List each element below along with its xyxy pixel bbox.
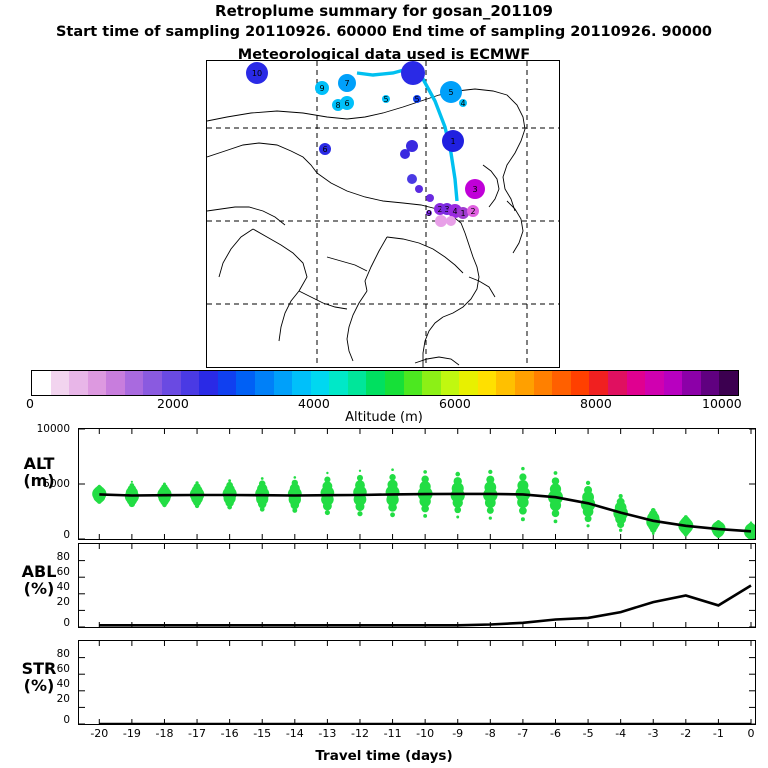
x-tick-label: -13 xyxy=(314,727,340,740)
alt-plot-panel xyxy=(78,428,756,540)
colorbar-swatch xyxy=(292,371,311,395)
x-tick-label: -17 xyxy=(184,727,210,740)
bubble-label: 3 xyxy=(472,185,477,194)
str-ytick-20: 20 xyxy=(30,693,70,705)
altitude-spread-marker xyxy=(684,515,688,519)
x-tick-label: -6 xyxy=(543,727,569,740)
x-tick-label: -3 xyxy=(640,727,666,740)
altitude-spread-marker xyxy=(292,480,298,486)
bubble-label: 6 xyxy=(344,99,349,108)
colorbar-swatch xyxy=(236,371,255,395)
colorbar-swatch xyxy=(441,371,460,395)
colorbar-swatch xyxy=(255,371,274,395)
colorbar-swatch xyxy=(51,371,70,395)
x-tick-label: -1 xyxy=(705,727,731,740)
altitude-bubble xyxy=(446,216,456,226)
altitude-spread-marker xyxy=(486,476,494,484)
bubble-label: 1 xyxy=(460,209,465,218)
altitude-spread-marker xyxy=(517,480,528,491)
altitude-spread-marker xyxy=(130,483,135,488)
bubble-label: 7 xyxy=(344,79,349,88)
colorbar-swatch xyxy=(682,371,701,395)
x-tick-label: -12 xyxy=(347,727,373,740)
retroplume-map: 1097685554163234129 xyxy=(206,60,560,368)
x-tick-label: -18 xyxy=(152,727,178,740)
x-tick-label: 0 xyxy=(738,727,764,740)
colorbar-swatch xyxy=(552,371,571,395)
colorbar-swatch xyxy=(366,371,385,395)
x-tick-label: -16 xyxy=(217,727,243,740)
x-tick-label: -10 xyxy=(412,727,438,740)
x-tick-label: -9 xyxy=(445,727,471,740)
altitude-spread-marker xyxy=(550,484,561,495)
altitude-spread-marker xyxy=(421,476,428,483)
colorbar-swatch xyxy=(329,371,348,395)
altitude-bubble xyxy=(401,61,425,85)
x-tick-label: -19 xyxy=(119,727,145,740)
colorbar-swatch xyxy=(645,371,664,395)
colorbar-swatch xyxy=(664,371,683,395)
colorbar-swatch xyxy=(701,371,720,395)
altitude-spread-marker xyxy=(521,517,525,521)
x-tick-label: -4 xyxy=(608,727,634,740)
bubble-label: 4 xyxy=(460,99,465,108)
colorbar-swatch xyxy=(311,371,330,395)
colorbar-swatch xyxy=(589,371,608,395)
map-svg: 1097685554163234129 xyxy=(207,61,559,367)
altitude-spread-marker xyxy=(325,510,330,515)
altitude-spread-marker xyxy=(519,473,526,480)
altitude-spread-marker xyxy=(98,485,101,488)
x-tick-label: -5 xyxy=(575,727,601,740)
altitude-spread-marker xyxy=(390,512,395,517)
altitude-spread-marker xyxy=(261,477,264,480)
altitude-spread-marker xyxy=(259,480,266,487)
colorbar-swatch xyxy=(106,371,125,395)
altitude-spread-marker xyxy=(617,498,625,506)
altitude-spread-marker xyxy=(131,481,133,483)
altitude-spread-marker xyxy=(163,483,166,486)
str-ytick-0: 0 xyxy=(30,714,70,726)
altitude-spread-marker xyxy=(293,476,296,479)
altitude-spread-marker xyxy=(391,468,394,471)
colorbar-tick-0: 0 xyxy=(26,396,34,411)
colorbar-swatch xyxy=(181,371,200,395)
alt-plot-svg xyxy=(79,429,755,539)
colorbar-tick-6000: 6000 xyxy=(439,396,471,411)
colorbar-tick-2000: 2000 xyxy=(157,396,189,411)
colorbar-swatch xyxy=(534,371,553,395)
altitude-bubble xyxy=(415,185,423,193)
altitude-spread-marker xyxy=(357,511,362,516)
altitude-spread-marker xyxy=(488,470,492,474)
colorbar-swatch xyxy=(274,371,293,395)
str-ytick-60: 60 xyxy=(30,663,70,675)
altitude-spread-marker xyxy=(651,508,656,513)
alt-ytick-5000: 5000 xyxy=(30,478,70,490)
colorbar-swatch xyxy=(496,371,515,395)
colorbar-swatch xyxy=(404,371,423,395)
colorbar-swatch xyxy=(88,371,107,395)
x-tick-label: -2 xyxy=(673,727,699,740)
altitude-spread-marker xyxy=(226,482,233,489)
altitude-spread-marker xyxy=(359,470,361,472)
altitude-bubbles: 1097685554163234129 xyxy=(246,61,485,227)
abl-ytick-40: 40 xyxy=(30,581,70,593)
sampling-time-subtitle: Start time of sampling 20110926. 60000 E… xyxy=(0,24,768,40)
map-coastlines xyxy=(207,89,525,367)
bubble-label: 5 xyxy=(448,88,453,97)
x-tick-label: -11 xyxy=(380,727,406,740)
altitude-spread-marker xyxy=(455,472,460,477)
map-gridlines xyxy=(207,61,559,367)
colorbar-swatch xyxy=(515,371,534,395)
bubble-label: 4 xyxy=(452,207,457,216)
abl-ytick-80: 80 xyxy=(30,551,70,563)
altitude-bubble xyxy=(435,215,447,227)
colorbar-swatch xyxy=(385,371,404,395)
altitude-bubble xyxy=(407,174,417,184)
bubble-label: 10 xyxy=(252,69,262,78)
bubble-label: 5 xyxy=(414,95,419,104)
colorbar-swatch xyxy=(719,371,738,395)
page-title: Retroplume summary for gosan_201109 xyxy=(0,2,768,20)
x-tick-label: -8 xyxy=(477,727,503,740)
colorbar-swatch xyxy=(162,371,181,395)
colorbar-tick-4000: 4000 xyxy=(298,396,330,411)
bubble-label: 8 xyxy=(335,101,340,110)
altitude-spread-marker xyxy=(619,529,622,532)
bubble-label: 9 xyxy=(319,84,324,93)
altitude-spread-marker xyxy=(456,516,459,519)
bubble-label: 6 xyxy=(322,145,327,154)
str-plot-svg xyxy=(79,641,755,724)
colorbar-title: Altitude (m) xyxy=(0,410,768,425)
altitude-spread-marker xyxy=(195,481,198,484)
abl-ytick-20: 20 xyxy=(30,596,70,608)
altitude-spread-marker xyxy=(423,514,427,518)
alt-ytick-10000: 10000 xyxy=(30,423,70,435)
altitude-spread-marker xyxy=(584,486,592,494)
colorbar-swatch xyxy=(125,371,144,395)
colorbar-swatch xyxy=(627,371,646,395)
altitude-spread-marker xyxy=(717,520,720,523)
altitude-spread-marker xyxy=(389,474,395,480)
altitude-spread-marker xyxy=(228,479,231,482)
altitude-spread-marker xyxy=(326,472,328,474)
altitude-spread-marker xyxy=(586,524,589,527)
alt-ytick-0: 0 xyxy=(30,529,70,541)
colorbar-swatch xyxy=(32,371,51,395)
altitude-spread-marker xyxy=(619,494,623,498)
colorbar-swatch xyxy=(608,371,627,395)
altitude-spread-marker xyxy=(423,470,427,474)
altitude-spread-marker xyxy=(387,480,397,490)
x-tick-label: -14 xyxy=(282,727,308,740)
colorbar-swatch xyxy=(459,371,478,395)
x-tick-label: -7 xyxy=(510,727,536,740)
altitude-spread-marker xyxy=(586,481,590,485)
abl-ytick-0: 0 xyxy=(30,617,70,629)
bubble-label: 5 xyxy=(383,95,388,104)
colorbar-swatch xyxy=(218,371,237,395)
altitude-spread-marker xyxy=(552,477,560,485)
altitude-bubble xyxy=(400,149,410,159)
abl-line xyxy=(99,586,751,626)
colorbar-swatch xyxy=(199,371,218,395)
abl-plot-svg xyxy=(79,544,755,627)
colorbar-swatch xyxy=(422,371,441,395)
altitude-spread-marker xyxy=(554,471,558,475)
altitude-spread-marker xyxy=(554,520,558,524)
bubble-label: 1 xyxy=(450,137,455,146)
colorbar-tick-8000: 8000 xyxy=(580,396,612,411)
abl-plot-panel xyxy=(78,543,756,628)
altitude-spread-marker xyxy=(489,516,492,519)
bubble-label: 2 xyxy=(470,207,475,216)
str-plot-panel xyxy=(78,640,756,725)
altitude-spread-marker xyxy=(324,477,330,483)
colorbar-swatch xyxy=(143,371,162,395)
bubble-label: 9 xyxy=(426,209,431,218)
str-ytick-80: 80 xyxy=(30,648,70,660)
colorbar-swatch xyxy=(69,371,88,395)
altitude-bubble xyxy=(426,194,434,202)
altitude-spread-marker xyxy=(750,521,752,523)
abl-ytick-60: 60 xyxy=(30,566,70,578)
colorbar-swatch xyxy=(478,371,497,395)
altitude-spread-marker xyxy=(521,467,525,471)
x-axis-label: Travel time (days) xyxy=(0,748,768,764)
altitude-spread-marker xyxy=(454,477,462,485)
str-ytick-40: 40 xyxy=(30,678,70,690)
x-tick-label: -15 xyxy=(249,727,275,740)
colorbar-swatch xyxy=(348,371,367,395)
colorbar-tick-10000: 10000 xyxy=(702,396,742,411)
x-tick-label: -20 xyxy=(86,727,112,740)
altitude-spread-marker xyxy=(322,481,332,491)
altitude-colorbar xyxy=(31,370,739,396)
altitude-spread-marker xyxy=(357,475,363,481)
altitude-spread-marker xyxy=(355,480,365,490)
colorbar-swatch xyxy=(571,371,590,395)
